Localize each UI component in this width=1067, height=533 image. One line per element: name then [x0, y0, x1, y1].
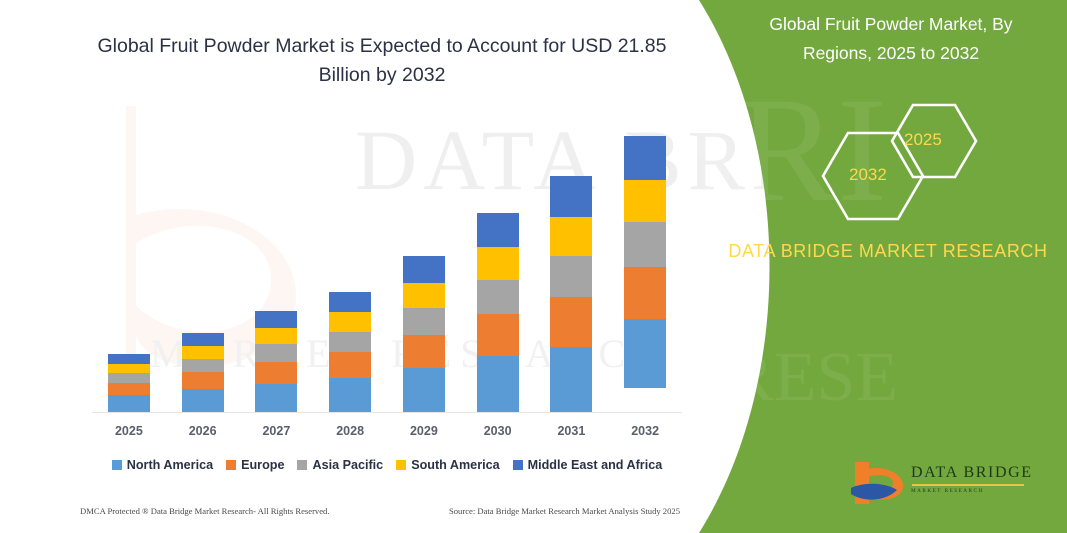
bar-segment: [182, 359, 224, 372]
svg-text:RESE: RESE: [727, 339, 898, 416]
bar-segment: [624, 319, 666, 388]
bar-segment: [403, 335, 445, 368]
brand-panel-title: Global Fruit Powder Market, By Regions, …: [733, 10, 1049, 68]
logo-divider: [912, 484, 1024, 486]
logo-text-block: DATA BRIDGE MARKET RESEARCH: [911, 464, 1033, 494]
bar-column-2026[interactable]: [182, 333, 224, 412]
brand-panel: BRI RESE Global Fruit Powder Market, By …: [667, 0, 1067, 533]
bar-segment: [550, 176, 592, 217]
bar-segment: [329, 332, 371, 353]
footer-copyright: DMCA Protected ® Data Bridge Market Rese…: [80, 506, 330, 516]
footer-source: Source: Data Bridge Market Research Mark…: [449, 506, 680, 516]
x-axis-label-2029: 2029: [387, 424, 461, 438]
bar-segment: [182, 346, 224, 359]
page-title: Global Fruit Powder Market is Expected t…: [92, 32, 672, 90]
bar-segment: [403, 308, 445, 335]
logo-subtitle: MARKET RESEARCH: [911, 488, 1033, 494]
footer: DMCA Protected ® Data Bridge Market Rese…: [80, 506, 680, 516]
bar-segment: [624, 222, 666, 267]
bar-segment: [255, 328, 297, 344]
bar-segment: [182, 372, 224, 389]
bar-segment: [477, 247, 519, 280]
legend-item[interactable]: Asia Pacific: [297, 458, 383, 472]
bar-segment: [550, 347, 592, 412]
bar-segment: [624, 180, 666, 222]
legend-label: North America: [127, 458, 213, 472]
bar-segment: [182, 389, 224, 411]
bar-segment: [182, 333, 224, 346]
bar-segment: [403, 283, 445, 308]
data-bridge-logo: DATA BRIDGE MARKET RESEARCH: [849, 460, 1039, 508]
hexagon-label-2025: 2025: [904, 130, 942, 150]
bar-segment: [108, 354, 150, 364]
bar-column-2025[interactable]: [108, 354, 150, 412]
bar-segment: [477, 314, 519, 356]
legend-swatch-icon: [226, 460, 236, 470]
hexagon-label-2032: 2032: [849, 165, 887, 185]
infographic-canvas: DATA BRIDGE MARKET RESEARCH Global Fruit…: [0, 0, 1067, 533]
legend-item[interactable]: South America: [396, 458, 499, 472]
bar-segment: [108, 364, 150, 373]
brand-panel-wordmark: DATA BRIDGE MARKET RESEARCH: [723, 236, 1053, 266]
bar-segment: [255, 384, 297, 412]
chart-legend: North AmericaEuropeAsia PacificSouth Ame…: [92, 455, 682, 475]
legend-swatch-icon: [297, 460, 307, 470]
bar-segment: [108, 383, 150, 395]
bar-column-2029[interactable]: [403, 256, 445, 412]
bar-segment: [624, 136, 666, 180]
bar-segment: [255, 311, 297, 328]
bar-segment: [403, 256, 445, 283]
legend-swatch-icon: [112, 460, 122, 470]
bar-segment: [550, 256, 592, 298]
bar-segment: [329, 292, 371, 312]
x-axis-label-2027: 2027: [239, 424, 313, 438]
bar-column-2030[interactable]: [477, 213, 519, 412]
chart-baseline: [92, 412, 682, 413]
bar-segment: [255, 362, 297, 384]
x-axis-label-2026: 2026: [166, 424, 240, 438]
bar-segment: [108, 395, 150, 412]
chart-x-axis: 20252026202720282029203020312032: [92, 420, 682, 444]
bar-segment: [108, 373, 150, 383]
bar-column-2032[interactable]: [624, 136, 666, 412]
legend-item[interactable]: Middle East and Africa: [513, 458, 663, 472]
bar-segment: [403, 368, 445, 412]
x-axis-label-2030: 2030: [461, 424, 535, 438]
bar-segment: [329, 378, 371, 412]
bar-segment: [550, 297, 592, 346]
bar-column-2027[interactable]: [255, 311, 297, 412]
legend-label: Middle East and Africa: [528, 458, 663, 472]
x-axis-label-2028: 2028: [313, 424, 387, 438]
hexagon-group: 2025 2032: [795, 95, 1015, 225]
legend-swatch-icon: [396, 460, 406, 470]
bar-segment: [550, 217, 592, 256]
bar-segment: [624, 267, 666, 319]
legend-item[interactable]: Europe: [226, 458, 284, 472]
legend-label: Europe: [241, 458, 284, 472]
data-bridge-b-logo-icon: [849, 460, 907, 506]
bar-segment: [329, 352, 371, 378]
legend-label: Asia Pacific: [312, 458, 383, 472]
bar-segment: [477, 280, 519, 315]
chart-plot-area: [92, 110, 682, 413]
logo-title: DATA BRIDGE: [911, 464, 1033, 482]
bar-segment: [477, 356, 519, 411]
x-axis-label-2025: 2025: [92, 424, 166, 438]
bar-column-2031[interactable]: [550, 176, 592, 412]
hexagon-outlines-icon: [795, 95, 1015, 225]
bar-segment: [477, 213, 519, 247]
bar-segment: [255, 344, 297, 362]
legend-item[interactable]: North America: [112, 458, 213, 472]
bar-column-2028[interactable]: [329, 292, 371, 412]
brand-panel-shape: BRI RESE: [667, 0, 1067, 533]
x-axis-label-2031: 2031: [534, 424, 608, 438]
legend-swatch-icon: [513, 460, 523, 470]
bar-segment: [329, 312, 371, 331]
legend-label: South America: [411, 458, 499, 472]
